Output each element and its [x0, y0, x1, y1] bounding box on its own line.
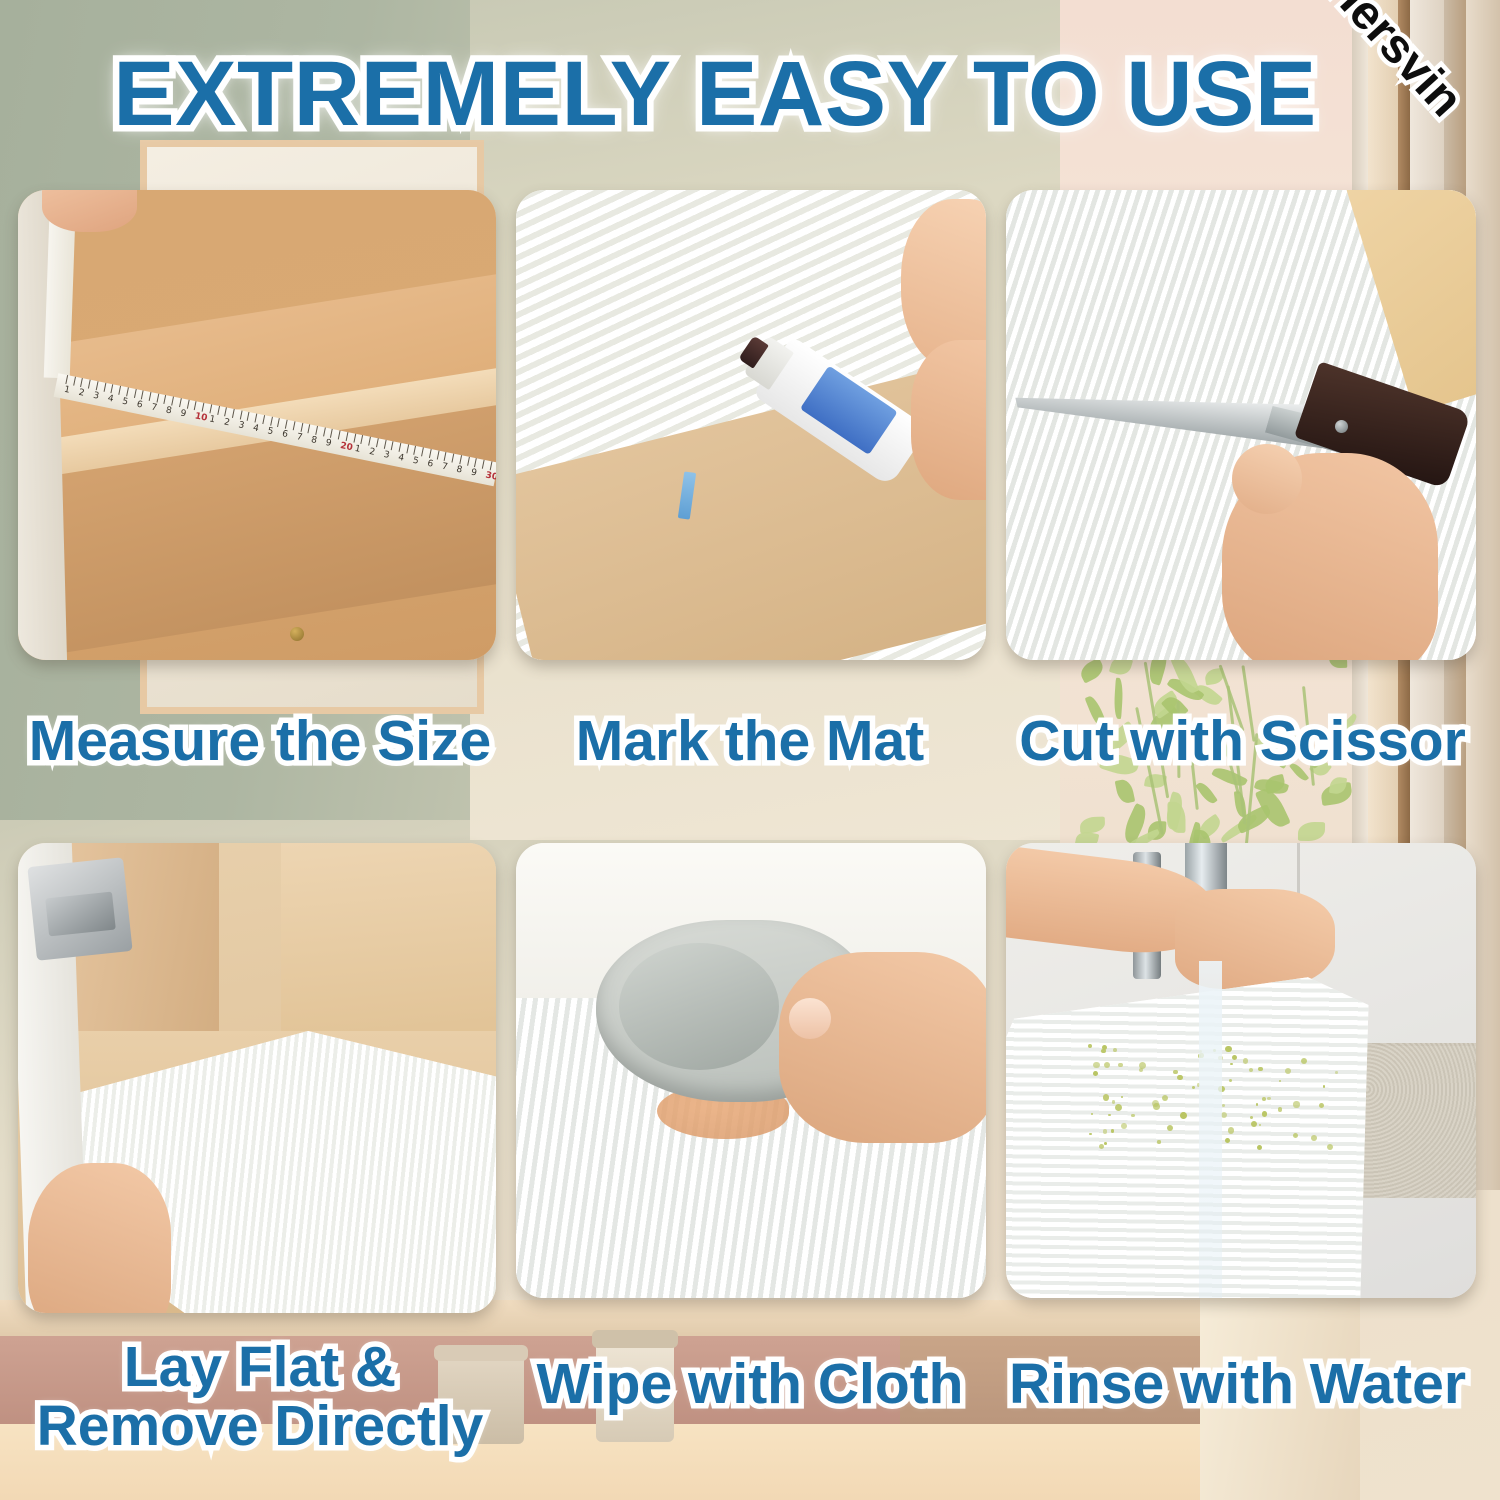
- food-crumb: [1225, 1046, 1231, 1052]
- tape-tick: [467, 457, 470, 466]
- food-crumb: [1088, 1044, 1092, 1048]
- tape-tick: [437, 451, 440, 460]
- food-crumb: [1112, 1100, 1115, 1103]
- plant-leaf: [1298, 822, 1325, 841]
- tape-tick: [103, 383, 106, 392]
- tape-tick: [119, 386, 122, 395]
- tape-tick: [172, 397, 175, 406]
- food-crumb: [1091, 1113, 1093, 1115]
- food-crumb: [1251, 1121, 1257, 1127]
- tape-tick: [179, 398, 182, 407]
- food-crumb: [1113, 1048, 1117, 1052]
- tape-tick: [134, 389, 137, 398]
- tape-number: 3: [92, 391, 100, 402]
- food-crumb: [1103, 1094, 1110, 1101]
- food-crumb: [1222, 1104, 1225, 1107]
- tape-number: 4: [107, 394, 115, 405]
- food-crumb: [1279, 1080, 1281, 1082]
- step-caption-1: Measure the Size: [0, 712, 520, 771]
- tape-tick: [316, 426, 319, 435]
- plant-leaf: [1167, 802, 1185, 833]
- plant-leaf: [1079, 817, 1105, 834]
- tape-tick: [209, 405, 212, 414]
- tape-tick: [240, 411, 243, 420]
- food-crumb: [1162, 1095, 1168, 1101]
- food-crumb: [1192, 1086, 1195, 1089]
- food-crumb: [1177, 1075, 1182, 1080]
- food-crumb: [1225, 1138, 1231, 1144]
- tape-tick: [270, 417, 273, 426]
- food-crumb: [1104, 1062, 1111, 1069]
- food-crumb: [1249, 1068, 1253, 1072]
- step-photo-2[interactable]: [516, 190, 986, 660]
- tape-tick: [262, 415, 265, 424]
- tape-number: 7: [151, 403, 159, 414]
- food-crumb: [1121, 1123, 1127, 1129]
- step-caption-5: Wipe with Cloth: [505, 1355, 995, 1414]
- tape-tick: [459, 455, 462, 464]
- food-crumb: [1278, 1107, 1282, 1111]
- step-photo-4[interactable]: [18, 843, 496, 1313]
- tape-number: 4: [252, 423, 260, 434]
- tape-tick: [126, 388, 129, 397]
- tape-tick: [111, 385, 114, 394]
- tape-tick: [278, 418, 281, 427]
- food-crumb: [1258, 1067, 1263, 1072]
- food-crumb: [1173, 1070, 1177, 1074]
- tape-number: 9: [180, 409, 188, 420]
- thumb-nail: [789, 998, 831, 1039]
- tape-tick: [391, 442, 394, 451]
- tape-tick: [255, 414, 258, 423]
- hand-thumb: [1232, 444, 1303, 515]
- food-crumb: [1257, 1145, 1262, 1150]
- tape-tick: [406, 445, 409, 454]
- food-crumb: [1182, 1112, 1185, 1115]
- food-crumb: [1103, 1129, 1107, 1133]
- tape-tick: [247, 412, 250, 421]
- food-crumb: [1111, 1129, 1114, 1132]
- tape-number: 6: [427, 459, 435, 470]
- food-crumb: [1327, 1144, 1333, 1150]
- plant-leaf: [1114, 778, 1135, 804]
- tape-tick: [331, 429, 334, 438]
- tape-tick: [369, 437, 372, 446]
- tape-number: 6: [281, 429, 289, 440]
- food-crumb: [1228, 1127, 1235, 1134]
- food-crumb: [1311, 1135, 1317, 1141]
- tape-number: 3: [238, 420, 246, 431]
- tape-tick: [156, 394, 159, 403]
- tape-number: 20: [339, 441, 353, 453]
- tape-tick: [482, 460, 485, 469]
- tape-tick: [308, 425, 311, 434]
- tape-number: 8: [165, 406, 173, 417]
- tape-tick: [475, 459, 478, 468]
- cabinet-hinge-arm: [45, 891, 115, 935]
- tape-number: 4: [398, 453, 406, 464]
- step-caption-6: Rinse with Water: [985, 1355, 1490, 1414]
- tape-tick: [73, 377, 76, 386]
- tape-tick: [285, 420, 288, 429]
- tape-number: 2: [78, 388, 86, 399]
- tape-number: 8: [456, 465, 464, 476]
- water-stream: [1199, 961, 1223, 1298]
- tape-tick: [338, 431, 341, 440]
- infographic-canvas: EXTREMELY EASY TO USE Hersvin 1234567891…: [0, 0, 1500, 1500]
- tape-number: 5: [267, 426, 275, 437]
- tape-tick: [399, 443, 402, 452]
- tape-number: 7: [441, 462, 449, 473]
- food-crumb: [1118, 1063, 1123, 1068]
- food-crumb: [1102, 1045, 1107, 1050]
- food-crumb: [1256, 1103, 1259, 1106]
- tape-tick: [232, 409, 235, 418]
- tape-tick: [187, 400, 190, 409]
- tape-tick: [353, 434, 356, 443]
- step-photo-6[interactable]: [1006, 843, 1476, 1298]
- food-crumb: [1243, 1058, 1248, 1063]
- food-crumb: [1293, 1133, 1298, 1138]
- tape-tick: [202, 403, 205, 412]
- food-crumb: [1093, 1071, 1098, 1076]
- tape-tick: [81, 378, 84, 387]
- food-crumb: [1104, 1142, 1107, 1145]
- food-crumb: [1262, 1111, 1267, 1116]
- food-crumb: [1319, 1103, 1324, 1108]
- tape-tick: [141, 391, 144, 400]
- food-crumb: [1267, 1097, 1271, 1101]
- plant-leaf: [1195, 780, 1218, 806]
- tape-tick: [323, 428, 326, 437]
- plant-leaf: [1077, 658, 1106, 685]
- food-crumb: [1301, 1058, 1307, 1064]
- food-crumb: [1139, 1062, 1146, 1069]
- food-crumb: [1099, 1144, 1104, 1149]
- tape-tick: [422, 448, 425, 457]
- food-crumb: [1230, 1063, 1233, 1066]
- tape-number: 9: [325, 438, 333, 449]
- food-crumb: [1121, 1096, 1123, 1098]
- tape-tick: [96, 381, 99, 390]
- hand-holding-cloth: [779, 952, 986, 1143]
- cabinet-right-wall: [281, 843, 496, 1059]
- step-caption-3: Cut with Scissor: [995, 712, 1490, 771]
- tape-number: 30: [485, 471, 496, 483]
- food-crumb: [1093, 1062, 1099, 1068]
- tape-tick: [376, 438, 379, 447]
- food-crumb: [1131, 1114, 1134, 1117]
- hand-lifting-mat: [28, 1163, 171, 1313]
- food-crumb: [1152, 1100, 1159, 1107]
- tape-tick: [490, 462, 493, 471]
- tape-tick: [225, 408, 228, 417]
- tape-number: 7: [296, 432, 304, 443]
- food-crumb: [1232, 1055, 1237, 1060]
- step-photo-5[interactable]: [516, 843, 986, 1298]
- food-crumb: [1285, 1068, 1291, 1074]
- tape-number: 6: [136, 400, 144, 411]
- step-photo-3[interactable]: [1006, 190, 1476, 660]
- food-crumb: [1262, 1097, 1266, 1101]
- food-crumb: [1335, 1071, 1338, 1074]
- food-crumb: [1157, 1140, 1160, 1143]
- tape-number: 9: [470, 468, 478, 479]
- page-title: EXTREMELY EASY TO USE: [0, 48, 1430, 140]
- tape-number: 1: [354, 444, 362, 455]
- tape-tick: [164, 395, 167, 404]
- tape-tick: [149, 392, 152, 401]
- food-crumb: [1250, 1116, 1253, 1119]
- background-jar-right-lid: [592, 1330, 678, 1348]
- tape-number: 5: [122, 397, 130, 408]
- tape-tick: [194, 402, 197, 411]
- tape-tick: [88, 380, 91, 389]
- tape-number: 10: [194, 412, 208, 424]
- step-caption-2: Mark the Mat: [510, 712, 990, 771]
- tape-tick: [384, 440, 387, 449]
- tape-tick: [217, 406, 220, 415]
- tape-tick: [452, 454, 455, 463]
- tape-number: 2: [223, 418, 231, 429]
- microfiber-cloth-fold: [619, 943, 779, 1070]
- hand-fingers: [911, 340, 986, 500]
- tape-number: 5: [412, 456, 420, 467]
- tape-number: 1: [209, 415, 217, 426]
- tape-tick: [361, 435, 364, 444]
- tape-tick: [444, 452, 447, 461]
- food-crumb: [1323, 1085, 1325, 1087]
- tape-tick: [300, 423, 303, 432]
- tape-tick: [429, 449, 432, 458]
- tape-tick: [346, 432, 349, 441]
- food-crumb: [1089, 1133, 1092, 1136]
- food-crumb: [1259, 1124, 1261, 1126]
- food-crumb: [1115, 1104, 1122, 1111]
- step-caption-4: Lay Flat & Remove Directly: [10, 1338, 510, 1457]
- tape-number: 1: [63, 385, 71, 396]
- tape-number: 3: [383, 450, 391, 461]
- food-crumb: [1229, 1079, 1232, 1082]
- tape-tick: [293, 422, 296, 431]
- food-crumb: [1167, 1125, 1173, 1131]
- food-crumb: [1108, 1114, 1110, 1116]
- tape-number: 8: [310, 435, 318, 446]
- tape-tick: [414, 446, 417, 455]
- food-crumb: [1293, 1101, 1299, 1107]
- step-photo-1[interactable]: 123456789101234567892012345678930: [18, 190, 496, 660]
- tape-tick: [66, 375, 69, 384]
- tape-number: 2: [369, 447, 377, 458]
